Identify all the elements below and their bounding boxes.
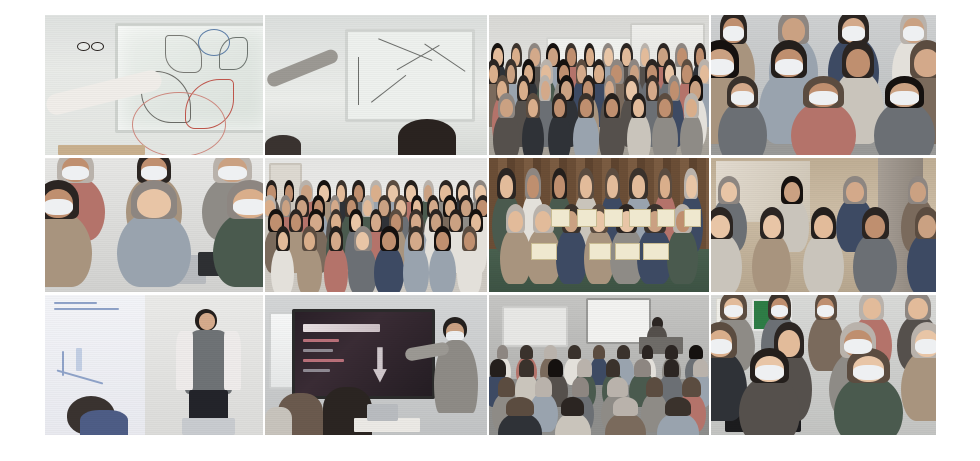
crowd-figure-face <box>508 211 522 232</box>
certificate <box>615 243 640 260</box>
crowd-figure-face <box>686 175 696 197</box>
photo-3-image <box>489 15 709 155</box>
face-mask <box>731 91 754 105</box>
crowd-figure-face <box>410 232 422 250</box>
gallery-photo-6[interactable] <box>265 158 487 292</box>
photo-12-image <box>711 295 936 435</box>
crowd-figure <box>403 246 428 292</box>
crowd-figure <box>348 246 377 292</box>
crowd-figure <box>834 376 904 435</box>
photo-9-image <box>45 295 263 435</box>
crowd-figure-head <box>634 359 651 376</box>
face-mask <box>844 339 871 354</box>
crowd-figure-head <box>646 377 663 397</box>
photo-2-image <box>265 15 487 155</box>
crowd-figure-head <box>568 345 581 360</box>
photo-1-image <box>45 15 263 155</box>
photo-11-image <box>489 295 709 435</box>
gallery-photo-9[interactable] <box>45 295 263 435</box>
crowd-figure-face <box>500 99 512 117</box>
crowd-figure-face <box>436 232 448 250</box>
crowd-figure-face <box>763 215 781 238</box>
face-mask <box>711 59 734 75</box>
crowd-figure-face <box>278 232 288 250</box>
crowd-figure-face <box>908 298 927 319</box>
photo-10-image <box>265 295 487 435</box>
crowd-figure-head <box>682 377 700 397</box>
crowd-figure-face <box>711 215 730 238</box>
crowd-figure-head <box>617 345 630 360</box>
crowd-figure-face <box>846 49 870 77</box>
crowd-figure <box>429 246 456 292</box>
face-mask <box>141 166 166 180</box>
crowd-figure-head <box>548 359 563 376</box>
face-mask <box>890 91 918 105</box>
crowd-figure-head <box>572 377 588 397</box>
crowd-figure-head <box>693 359 708 376</box>
crowd-figure-face <box>633 99 644 117</box>
gallery-photo-11[interactable] <box>489 295 709 435</box>
crowd-figure <box>374 246 404 292</box>
photo-gallery <box>45 15 935 435</box>
certificate <box>589 243 611 260</box>
crowd-figure-head <box>506 397 533 416</box>
certificate <box>643 243 669 260</box>
crowd-figure-face <box>331 232 342 250</box>
photo-5-image <box>45 158 263 292</box>
crowd-figure-face <box>541 81 550 100</box>
crowd-figure-face <box>686 99 697 117</box>
face-mask <box>755 365 783 380</box>
face-mask <box>218 166 246 180</box>
crowd-figure <box>652 113 677 155</box>
crowd-figure-face <box>910 182 925 202</box>
face-mask <box>775 59 802 75</box>
crowd-figure-head <box>593 345 605 360</box>
photo-6-image <box>265 158 487 292</box>
crowd-figure-face <box>660 175 671 197</box>
crowd-figure <box>573 113 599 155</box>
crowd-figure-face <box>554 99 565 117</box>
crowd-figure <box>324 246 347 292</box>
crowd-figure-face <box>291 214 301 231</box>
gallery-photo-8[interactable] <box>711 158 936 292</box>
crowd-figure-face <box>137 189 171 218</box>
crowd-figure-head <box>689 345 702 360</box>
crowd-figure-face <box>607 175 618 197</box>
crowd-figure-head <box>606 359 620 376</box>
face-mask <box>724 305 744 317</box>
crowd-figure-head <box>535 377 553 397</box>
crowd-figure <box>556 228 587 284</box>
certificate <box>684 209 701 226</box>
crowd-figure-head <box>665 345 677 360</box>
gallery-photo-2[interactable] <box>265 15 487 155</box>
face-mask <box>817 305 834 317</box>
gallery-photo-4[interactable] <box>711 15 936 155</box>
crowd-figure-head <box>497 345 508 360</box>
crowd-figure-face <box>606 99 618 117</box>
crowd-figure <box>117 212 192 287</box>
crowd-figure-head <box>607 377 628 397</box>
gallery-photo-12[interactable] <box>711 295 936 435</box>
crowd-figure-face <box>304 232 315 250</box>
crowd-figure-face <box>846 182 863 202</box>
crowd-figure-face <box>865 215 885 238</box>
crowd-figure-face <box>659 99 671 117</box>
crowd-figure-face <box>632 175 646 197</box>
face-mask <box>903 26 923 40</box>
crowd-figure-face <box>535 211 551 232</box>
crowd-figure-face <box>527 175 538 197</box>
crowd-figure-face <box>863 298 882 319</box>
face-mask <box>809 91 839 105</box>
crowd-figure-face <box>594 65 603 83</box>
gallery-photo-5[interactable] <box>45 158 263 292</box>
crowd-figure-face <box>580 99 592 117</box>
certificate <box>531 243 557 260</box>
crowd-figure-face <box>356 232 369 250</box>
certificate <box>629 209 651 226</box>
face-mask <box>723 26 743 40</box>
crowd-figure <box>457 246 482 292</box>
crowd-figure-face <box>382 232 396 250</box>
gallery-photo-1[interactable] <box>45 15 263 155</box>
crowd-figure-face <box>784 182 800 202</box>
crowd-figure-head <box>490 359 506 376</box>
crowd-figure <box>548 113 571 155</box>
certificate <box>551 209 570 226</box>
crowd-figure-face <box>721 182 738 202</box>
crowd-figure <box>599 113 625 155</box>
photo-7-image <box>489 158 709 292</box>
crowd-figure-head <box>665 397 691 416</box>
face-mask <box>45 199 73 216</box>
crowd-figure-head <box>642 345 653 360</box>
certificate <box>604 209 623 226</box>
crowd-figure-head <box>519 359 534 376</box>
crowd-figure-face <box>580 175 592 197</box>
crowd-figure-head <box>520 345 533 360</box>
face-mask <box>771 305 788 317</box>
crowd-figure <box>271 246 294 292</box>
crowd-figure-face <box>586 48 594 66</box>
photo-4-image <box>711 15 936 155</box>
face-mask <box>915 339 936 354</box>
certificate <box>657 209 675 226</box>
crowd-figure-face <box>500 175 514 197</box>
crowd-figure-head <box>613 397 639 416</box>
crowd-figure-head <box>664 359 679 376</box>
crowd-figure-face <box>554 175 565 197</box>
crowd-figure-head <box>498 377 516 397</box>
crowd-figure-head <box>561 397 583 416</box>
face-mask <box>853 365 885 380</box>
crowd-figure <box>522 113 544 155</box>
crowd-figure-face <box>814 215 833 238</box>
crowd-figure <box>627 113 651 155</box>
crowd-figure-head <box>544 345 557 360</box>
crowd-figure <box>297 246 322 292</box>
certificate <box>577 209 597 226</box>
face-mask <box>62 166 89 180</box>
crowd-figure <box>493 113 520 155</box>
photo-8-image <box>711 158 936 292</box>
crowd-figure <box>752 233 791 292</box>
crowd-figure <box>853 233 897 292</box>
face-mask <box>842 26 866 40</box>
crowd-figure-head <box>577 359 591 376</box>
crowd-figure-face <box>918 215 936 238</box>
crowd-figure <box>803 233 844 292</box>
gallery-photo-7[interactable] <box>489 158 709 292</box>
gallery-photo-10[interactable] <box>265 295 487 435</box>
crowd-figure-face <box>528 99 538 117</box>
crowd-figure-face <box>464 232 475 250</box>
crowd-figure-face <box>782 18 805 42</box>
gallery-photo-3[interactable] <box>489 15 709 155</box>
crowd-figure-face <box>282 200 290 216</box>
crowd-figure-face <box>914 49 936 77</box>
crowd-figure <box>680 113 704 155</box>
face-mask <box>233 199 263 216</box>
crowd-figure-face <box>371 214 380 231</box>
crowd-figure <box>667 228 698 284</box>
